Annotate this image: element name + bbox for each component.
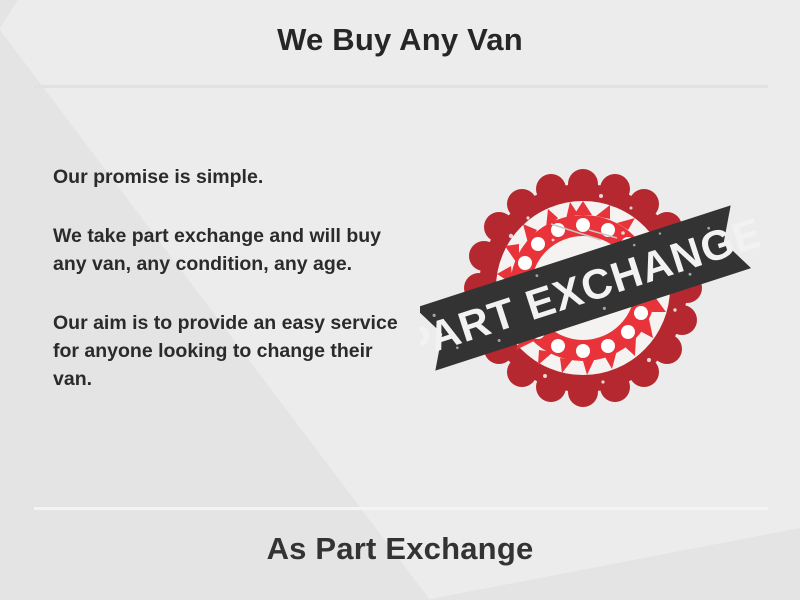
stamp-svg: PART EXCHANGE	[420, 150, 760, 420]
page-title-bottom: As Part Exchange	[0, 531, 800, 567]
page-title-top: We Buy Any Van	[0, 22, 800, 58]
stamp-body: PART EXCHANGE	[420, 169, 760, 407]
divider-top	[34, 85, 768, 88]
part-exchange-stamp-icon: PART EXCHANGE	[420, 150, 760, 420]
slide-canvas: We Buy Any Van As Part Exchange Our prom…	[0, 0, 800, 600]
body-paragraph: We take part exchange and will buy any v…	[53, 222, 413, 278]
body-paragraph: Our aim is to provide an easy service fo…	[53, 309, 413, 393]
body-copy-block: Our promise is simple. We take part exch…	[53, 163, 413, 393]
divider-bottom	[34, 507, 768, 510]
body-paragraph: Our promise is simple.	[53, 163, 413, 191]
